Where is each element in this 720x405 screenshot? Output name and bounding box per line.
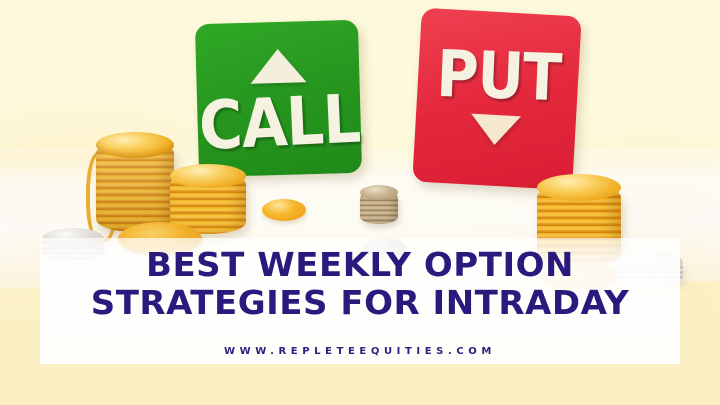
gold-coin-stack-medium-top bbox=[170, 164, 246, 188]
gold-coin-single bbox=[262, 199, 306, 221]
triangle-down-icon bbox=[469, 113, 521, 146]
headline-line-2: STRATEGIES FOR INTRADAY bbox=[0, 284, 720, 322]
put-sign-inner: PUT bbox=[412, 8, 581, 191]
website-url: WWW.REPLETEEQUITIES.COM bbox=[0, 346, 720, 357]
promo-banner: CALL PUT BEST WEEKLY OPTION STRATEGIES F… bbox=[0, 0, 720, 405]
gold-coin-stack-tall-top bbox=[96, 132, 174, 158]
headline-line-1: BEST WEEKLY OPTION bbox=[0, 246, 720, 284]
call-sign-label: CALL bbox=[198, 89, 361, 160]
brass-coin-stack-top bbox=[360, 185, 398, 200]
put-sign: PUT bbox=[412, 8, 581, 191]
gold-coin-stack-right-top bbox=[537, 174, 621, 201]
headline: BEST WEEKLY OPTION STRATEGIES FOR INTRAD… bbox=[0, 246, 720, 322]
call-sign: CALL bbox=[195, 20, 362, 177]
put-sign-label: PUT bbox=[435, 45, 561, 111]
call-sign-inner: CALL bbox=[195, 20, 362, 177]
triangle-up-icon bbox=[249, 49, 306, 85]
